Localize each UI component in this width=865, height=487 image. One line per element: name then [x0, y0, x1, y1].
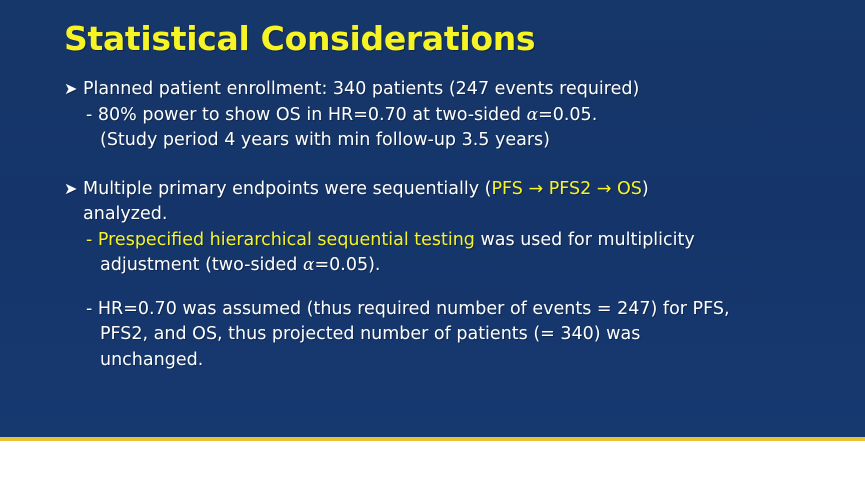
body-text: - HR=0.70 was assumed (thus required num… [86, 299, 730, 319]
bullet-line: adjustment (two-sided α=0.05). [64, 253, 824, 279]
body-text: - 80% power to show OS in HR=0.70 at two… [86, 105, 527, 125]
body-text: α [527, 105, 538, 125]
highlighted-text: - Prespecified hierarchical sequential t… [86, 230, 475, 250]
page-title: Statistical Considerations [64, 19, 535, 58]
bullet-block-hr-assumption: - HR=0.70 was assumed (thus required num… [64, 297, 824, 374]
body-text: =0.05). [314, 255, 380, 275]
bullet-line: - HR=0.70 was assumed (thus required num… [64, 297, 824, 323]
body-text: ) [642, 179, 649, 199]
arrow-bullet-icon: ➤ [64, 176, 83, 202]
bullet-line: ➤Multiple primary endpoints were sequent… [64, 176, 824, 203]
body-text: analyzed. [83, 204, 167, 224]
bullet-block-endpoints: ➤Multiple primary endpoints were sequent… [64, 176, 824, 279]
spacer [64, 154, 824, 176]
slide-footer: PRESENTED AT: 2018ASCO® ANNUAL MEETING #… [0, 441, 865, 487]
body-text: α [303, 255, 314, 275]
spacer [64, 279, 824, 297]
bullet-line: analyzed. [64, 202, 824, 228]
body-text: unchanged. [100, 350, 203, 370]
bullet-line: PFS2, and OS, thus projected number of p… [64, 322, 824, 348]
arrow-bullet-icon: ➤ [64, 76, 83, 102]
bullet-line: - 80% power to show OS in HR=0.70 at two… [64, 103, 824, 129]
bullet-line: (Study period 4 years with min follow-up… [64, 128, 824, 154]
body-text: Planned patient enrollment: 340 patients… [83, 79, 639, 99]
slide-canvas: Statistical Considerations ➤Planned pati… [0, 0, 865, 487]
body-text: Multiple primary endpoints were sequenti… [83, 179, 491, 199]
body-text: =0.05. [538, 105, 597, 125]
highlighted-text: PFS → PFS2 → OS [491, 179, 641, 199]
body-text: PFS2, and OS, thus projected number of p… [100, 324, 640, 344]
body-text: adjustment (two-sided [100, 255, 303, 275]
body-text: (Study period 4 years with min follow-up… [100, 130, 550, 150]
bullet-block-enrollment: ➤Planned patient enrollment: 340 patient… [64, 76, 824, 154]
bullet-line: ➤Planned patient enrollment: 340 patient… [64, 76, 824, 103]
body-text: was used for multiplicity [475, 230, 695, 250]
bullet-line: - Prespecified hierarchical sequential t… [64, 228, 824, 254]
slide-body: ➤Planned patient enrollment: 340 patient… [64, 76, 824, 373]
bullet-line: unchanged. [64, 348, 824, 374]
